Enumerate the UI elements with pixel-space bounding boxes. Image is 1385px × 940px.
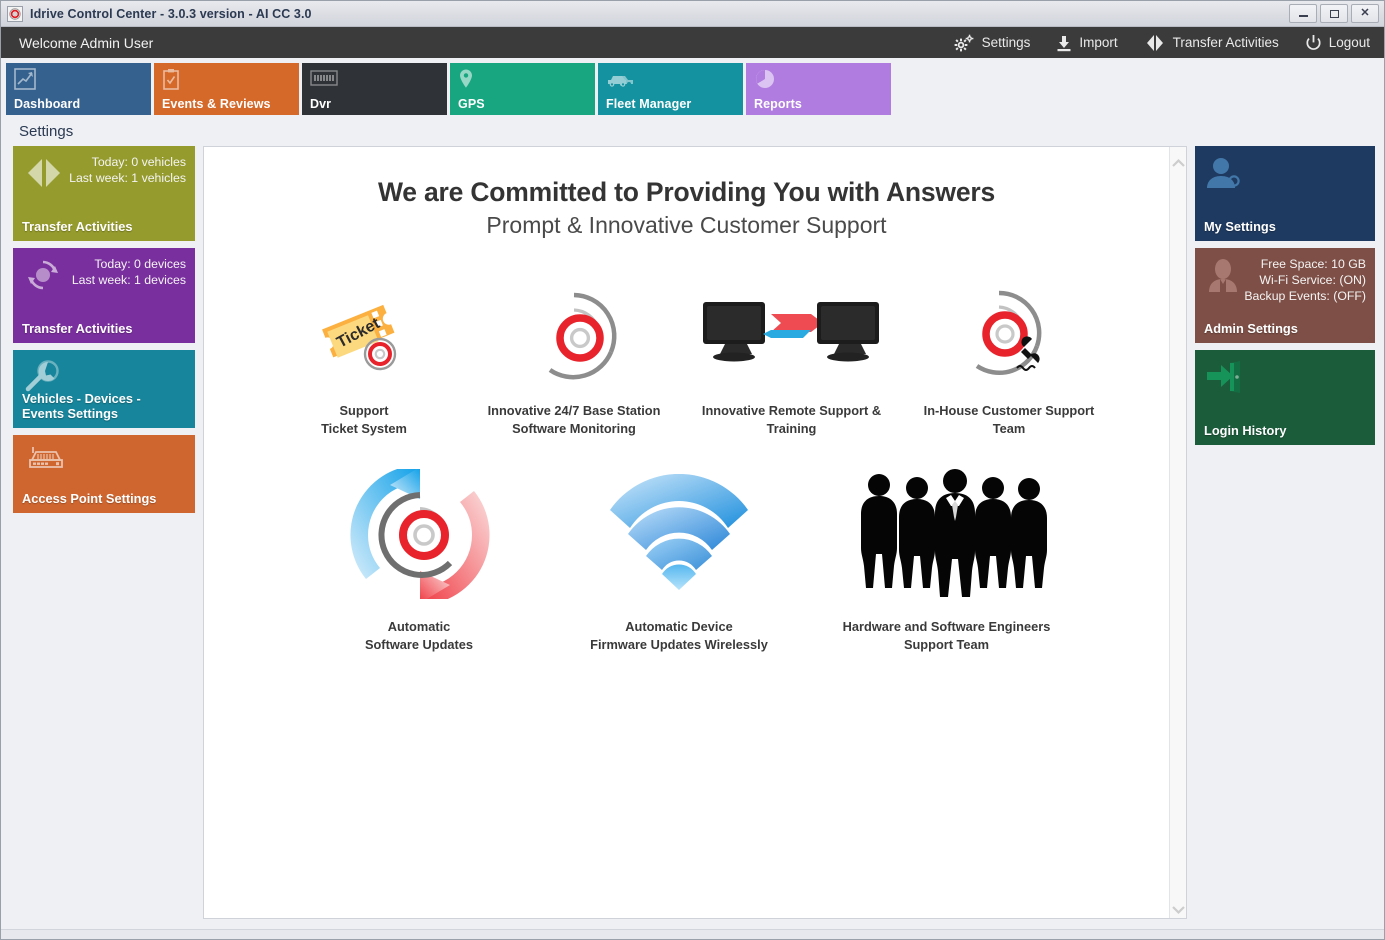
admin-user-icon <box>1204 257 1242 300</box>
tile-stat-line: Today: 0 devices <box>72 256 186 272</box>
caption-line-1: Automatic Device <box>590 618 768 636</box>
menu-settings-label: Settings <box>982 35 1031 50</box>
tab-events-label: Events & Reviews <box>162 97 271 111</box>
menu-transfer-label: Transfer Activities <box>1173 35 1279 50</box>
chevron-up-icon[interactable] <box>1172 155 1185 164</box>
menu-import[interactable]: Import <box>1056 34 1117 52</box>
window-title: Idrive Control Center - 3.0.3 version - … <box>30 7 312 21</box>
caption-line-1: Support <box>321 402 407 420</box>
gear-icon <box>953 34 975 52</box>
feature-in-house-support-team: In-House Customer Support Team <box>909 283 1109 438</box>
pie-chart-icon <box>754 68 891 90</box>
tile-title: Transfer Activities <box>22 219 132 234</box>
tile-title: Admin Settings <box>1204 321 1298 336</box>
sync-circle-icon <box>22 257 64 298</box>
tile-stat-line: Wi-Fi Service: (ON) <box>1244 272 1366 288</box>
feature-engineers-support-team: Hardware and Software Engineers Support … <box>839 464 1054 654</box>
caption-line-2: Firmware Updates Wirelessly <box>590 636 768 654</box>
tile-stat-line: Last week: 1 vehicles <box>69 170 186 186</box>
tile-admin-settings[interactable]: Free Space: 10 GB Wi-Fi Service: (ON) Ba… <box>1195 248 1375 343</box>
window-controls: ✕ <box>1289 4 1382 23</box>
caption-line-2: Team <box>924 420 1095 438</box>
power-icon <box>1305 34 1322 52</box>
tab-events-reviews[interactable]: Events & Reviews <box>154 63 299 115</box>
download-icon <box>1056 34 1072 52</box>
tile-stats: Free Space: 10 GB Wi-Fi Service: (ON) Ba… <box>1244 256 1366 304</box>
feature-caption: In-House Customer Support Team <box>924 402 1095 438</box>
close-button[interactable]: ✕ <box>1351 4 1379 23</box>
tab-gps-label: GPS <box>458 97 485 111</box>
title-bar: Idrive Control Center - 3.0.3 version - … <box>1 1 1384 27</box>
dvr-screen-icon <box>310 68 447 90</box>
tile-title: Transfer Activities <box>22 321 132 336</box>
caption-line-1: In-House Customer Support <box>924 402 1095 420</box>
caption-line-1: Automatic <box>365 618 473 636</box>
user-settings-icon <box>1204 155 1244 198</box>
main-content: We are Committed to Providing You with A… <box>203 146 1187 919</box>
chart-arrow-icon <box>14 68 151 90</box>
caption-line-2: Support Team <box>843 636 1051 654</box>
tab-dashboard[interactable]: Dashboard <box>6 63 151 115</box>
status-bar <box>1 929 1384 939</box>
tile-transfer-activities-devices[interactable]: Today: 0 devices Last week: 1 devices Tr… <box>13 248 195 343</box>
chevron-down-icon[interactable] <box>1172 901 1185 910</box>
caption-line-2: Software Monitoring <box>488 420 661 438</box>
support-ticket-icon: Ticket <box>312 283 416 388</box>
caption-line-1: Hardware and Software Engineers <box>843 618 1051 636</box>
feature-caption: Automatic Device Firmware Updates Wirele… <box>590 618 768 654</box>
transfer-arrows-icon <box>22 155 66 196</box>
tab-dashboard-label: Dashboard <box>14 97 80 111</box>
feature-caption: Innovative Remote Support & Training <box>702 402 881 438</box>
feature-caption: Support Ticket System <box>321 402 407 438</box>
team-silhouette-icon <box>847 464 1047 604</box>
tab-dvr-label: Dvr <box>310 97 331 111</box>
router-icon <box>22 444 68 483</box>
radar-target-icon <box>528 283 620 388</box>
page-subtitle: Prompt & Innovative Customer Support <box>214 212 1159 239</box>
menu-logout[interactable]: Logout <box>1305 34 1370 52</box>
transfer-arrows-icon <box>1144 34 1166 52</box>
tab-dvr[interactable]: Dvr <box>302 63 447 115</box>
feature-row-2: Automatic Software Updates <box>214 464 1159 654</box>
login-door-icon <box>1204 359 1244 400</box>
tab-fleet-label: Fleet Manager <box>606 97 691 111</box>
tile-title: Vehicles - Devices - Events Settings <box>22 391 186 421</box>
feature-support-ticket-system: Ticket Support <box>264 283 464 438</box>
feature-row-1: Ticket Support <box>214 283 1159 438</box>
caption-line-1: Innovative Remote Support & <box>702 402 881 420</box>
left-sidebar: Today: 0 vehicles Last week: 1 vehicles … <box>13 146 195 919</box>
top-menu-bar: Welcome Admin User <box>1 27 1384 58</box>
tab-gps[interactable]: GPS <box>450 63 595 115</box>
tile-title: Access Point Settings <box>22 491 156 506</box>
content-scrollbar[interactable] <box>1169 147 1186 918</box>
close-icon: ✕ <box>1360 8 1369 19</box>
tile-stat-line: Free Space: 10 GB <box>1244 256 1366 272</box>
tile-vehicles-devices-events-settings[interactable]: Vehicles - Devices - Events Settings <box>13 350 195 428</box>
feature-caption: Hardware and Software Engineers Support … <box>843 618 1051 654</box>
map-pin-icon <box>458 68 595 90</box>
wifi-signal-icon <box>602 464 757 604</box>
tile-access-point-settings[interactable]: Access Point Settings <box>13 435 195 513</box>
vehicles-icon <box>606 68 743 90</box>
menu-transfer-activities[interactable]: Transfer Activities <box>1144 34 1279 52</box>
caption-line-2: Training <box>702 420 881 438</box>
content-panel: We are Committed to Providing You with A… <box>203 146 1187 919</box>
feature-automatic-software-updates: Automatic Software Updates <box>319 464 519 654</box>
right-sidebar: My Settings Free Space: 10 GB Wi-Fi Serv… <box>1195 146 1375 919</box>
menu-import-label: Import <box>1079 35 1117 50</box>
tile-title: Login History <box>1204 423 1286 438</box>
feature-caption: Automatic Software Updates <box>365 618 473 654</box>
tab-reports[interactable]: Reports <box>746 63 891 115</box>
minimize-icon <box>1299 15 1308 17</box>
menu-items: Settings Import <box>953 34 1370 52</box>
clipboard-check-icon <box>162 68 299 90</box>
tile-title: My Settings <box>1204 219 1276 234</box>
application-window: Idrive Control Center - 3.0.3 version - … <box>0 0 1385 940</box>
maximize-button[interactable] <box>1320 4 1348 23</box>
menu-settings[interactable]: Settings <box>953 34 1031 52</box>
tile-stats: Today: 0 devices Last week: 1 devices <box>72 256 186 288</box>
caption-line-2: Ticket System <box>321 420 407 438</box>
tile-stat-line: Today: 0 vehicles <box>69 154 186 170</box>
minimize-button[interactable] <box>1289 4 1317 23</box>
tile-stats: Today: 0 vehicles Last week: 1 vehicles <box>69 154 186 186</box>
welcome-label: Welcome Admin User <box>19 35 153 51</box>
tile-login-history[interactable]: Login History <box>1195 350 1375 445</box>
tile-stat-line: Last week: 1 devices <box>72 272 186 288</box>
caption-line-1: Innovative 24/7 Base Station <box>488 402 661 420</box>
content-scroll-area: We are Committed to Providing You with A… <box>204 147 1169 918</box>
maximize-icon <box>1330 10 1339 18</box>
feature-remote-support-training: Innovative Remote Support & Training <box>684 283 899 438</box>
tile-my-settings[interactable]: My Settings <box>1195 146 1375 241</box>
feature-caption: Innovative 24/7 Base Station Software Mo… <box>488 402 661 438</box>
menu-logout-label: Logout <box>1329 35 1370 50</box>
feature-device-firmware-updates: Automatic Device Firmware Updates Wirele… <box>579 464 779 654</box>
tile-stat-line: Backup Events: (OFF) <box>1244 288 1366 304</box>
target-phone-icon <box>959 283 1059 388</box>
remote-monitors-icon <box>699 283 884 388</box>
refresh-target-icon <box>332 464 507 604</box>
target-radar-icon <box>7 6 23 22</box>
page-title: We are Committed to Providing You with A… <box>214 177 1159 208</box>
body-area: Today: 0 vehicles Last week: 1 vehicles … <box>1 146 1384 929</box>
navigation-tabs: Dashboard Events & Reviews <box>1 58 1384 115</box>
breadcrumb: Settings <box>1 115 1384 146</box>
tile-transfer-activities-vehicles[interactable]: Today: 0 vehicles Last week: 1 vehicles … <box>13 146 195 241</box>
tab-fleet-manager[interactable]: Fleet Manager <box>598 63 743 115</box>
feature-base-station-monitoring: Innovative 24/7 Base Station Software Mo… <box>474 283 674 438</box>
tab-reports-label: Reports <box>754 97 802 111</box>
caption-line-2: Software Updates <box>365 636 473 654</box>
